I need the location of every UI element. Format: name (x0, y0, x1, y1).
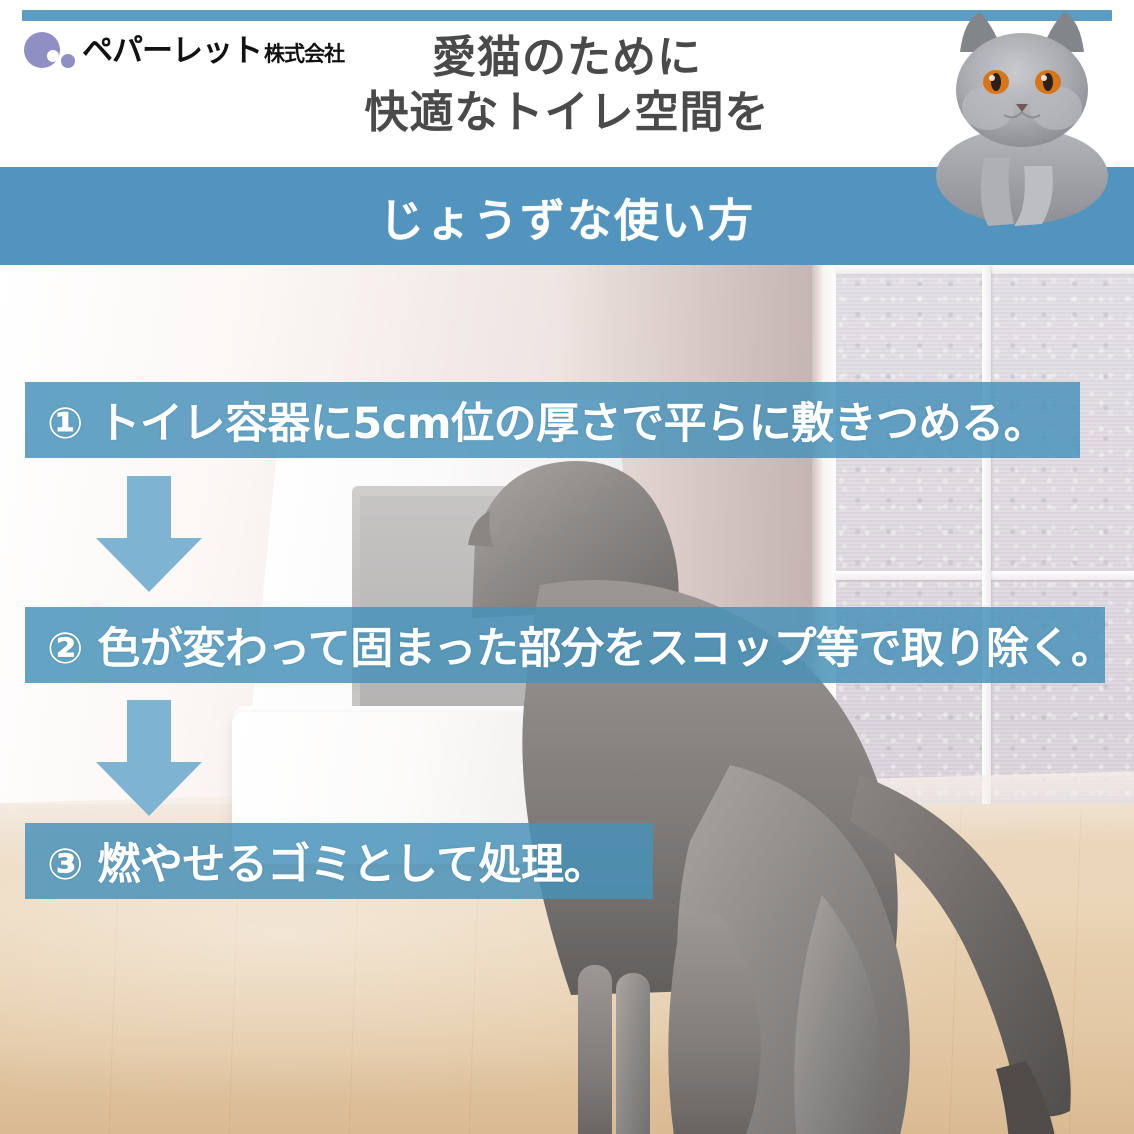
header-bar (0, 0, 1134, 167)
step-band-2: ② 色が変わって固まった部分をスコップ等で取り除く。 (25, 607, 1105, 683)
section-banner: じょうずな使い方 (0, 167, 1134, 265)
company-name-suffix: 株式会社 (264, 44, 344, 65)
infographic-page: ペパーレット 株式会社 愛猫のために 快適なトイレ空間を じょうずな使い方 (0, 0, 1134, 1134)
step-2-text: ② 色が変わって固まった部分をスコップ等で取り除く。 (25, 614, 1114, 676)
down-arrow-2-icon (94, 700, 204, 818)
step-3-text: ③ 燃やせるゴミとして処理。 (25, 830, 606, 892)
top-accent-line (22, 10, 1112, 21)
down-arrow-1-icon (94, 476, 204, 594)
step-band-1: ① トイレ容器に5cm位の厚さで平らに敷きつめる。 (25, 382, 1080, 458)
step-band-3: ③ 燃やせるゴミとして処理。 (25, 823, 653, 899)
company-logo[interactable]: ペパーレット 株式会社 (24, 28, 344, 74)
step-1-text: ① トイレ容器に5cm位の厚さで平らに敷きつめる。 (25, 389, 1046, 451)
logo-mark-icon (24, 28, 82, 74)
section-banner-title: じょうずな使い方 (0, 167, 1134, 265)
company-name-main: ペパーレット (82, 36, 262, 67)
company-name: ペパーレット 株式会社 (82, 36, 344, 67)
